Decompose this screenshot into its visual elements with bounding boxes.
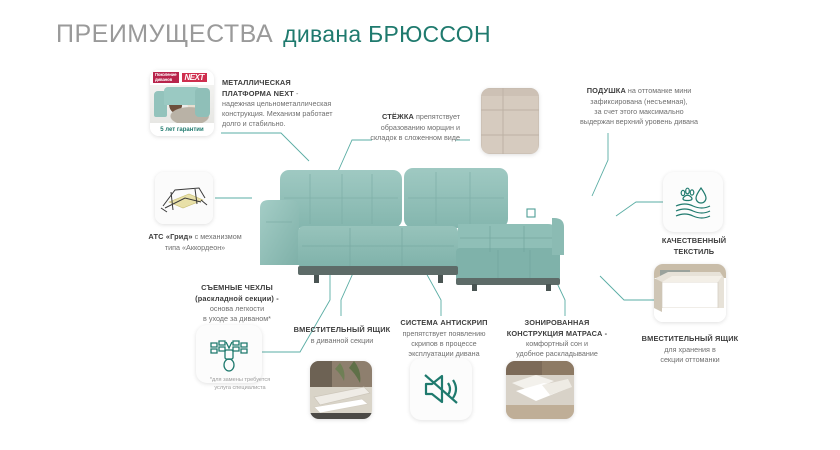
callout-pillow-line1: на оттоманке мини: [626, 86, 691, 95]
callout-platform-title-line1: МЕТАЛЛИЧЕСКАЯ: [222, 78, 291, 87]
callout-grid: АТС «Грид» с механизмом типа «Аккордеон»: [142, 232, 248, 253]
callout-drawer-sofa-body: в диванной секции: [290, 336, 394, 346]
page-title: ПРЕИМУЩЕСТВА дивана БРЮССОН: [56, 20, 491, 49]
grid-mechanism-thumbnail: [155, 172, 213, 224]
callout-mattress-line1: комфортный сон и: [498, 339, 616, 349]
next-promo-banner: Поколение диванов NEXT: [150, 70, 214, 85]
sofa-illustration: [258, 160, 598, 300]
callout-mattress-title-line2: КОНСТРУКЦИЯ МАТРАСА -: [507, 329, 608, 338]
callout-platform-dash: -: [294, 89, 298, 98]
callout-covers: СЪЕМНЫЕ ЧЕХЛЫ (раскладной секции) - осно…: [182, 283, 292, 324]
next-banner-logo: NEXT: [182, 73, 207, 82]
speaker-mute-icon: [420, 369, 462, 409]
next-warranty-label: 5 лет гарантии: [150, 123, 214, 136]
infographic-page: ПРЕИМУЩЕСТВА дивана БРЮССОН: [0, 0, 840, 450]
callout-grid-line2: типа «Аккордеон»: [142, 243, 248, 253]
callout-antiskrip-line1: препятствует появлению: [392, 329, 496, 339]
callout-drawer-ottoman-title: ВМЕСТИТЕЛЬНЫЙ ЯЩИК: [642, 334, 739, 343]
callout-quilting-line1: препятствует: [414, 112, 460, 121]
page-title-main: ПРЕИМУЩЕСТВА: [56, 20, 273, 49]
page-title-accent: дивана БРЮССОН: [283, 21, 491, 48]
callout-quilting-line3: складок в сложенном виде: [368, 133, 460, 143]
callout-pillow-line4: выдержан верхний уровень дивана: [555, 117, 723, 127]
callout-pillow-line3: за счет этого максимально: [555, 107, 723, 117]
callout-covers-title-line2: (раскладной секции) -: [195, 294, 279, 303]
callout-antiskrip-line2: скрипов в процессе: [392, 339, 496, 349]
next-platform-thumbnail: Поколение диванов NEXT 5 лет гарантии: [150, 70, 214, 136]
textile-icon-card: [663, 172, 723, 232]
paw-water-fabric-icon: [672, 182, 714, 222]
callout-drawer-sofa-title: ВМЕСТИТЕЛЬНЫЙ ЯЩИК: [294, 325, 391, 334]
callout-covers-title-line1: СЪЕМНЫЕ ЧЕХЛЫ: [201, 283, 273, 292]
callout-textile: КАЧЕСТВЕННЫЙ ТЕКСТИЛЬ: [648, 236, 740, 257]
callout-quilting-line2: образованию морщин и: [368, 123, 460, 133]
callout-platform: МЕТАЛЛИЧЕСКАЯ ПЛАТФОРМА NEXT - надежная …: [222, 78, 352, 130]
zipper-icon: [206, 334, 252, 374]
antiskrip-icon-card: [410, 358, 472, 420]
callout-grid-bold: АТС «Грид»: [148, 232, 192, 241]
callout-grid-rest: с механизмом: [193, 232, 242, 241]
covers-footnote-line2: услуга специалиста: [186, 385, 294, 393]
callout-platform-body-line2: конструкция. Механизм работает: [222, 109, 352, 119]
callout-drawer-ottoman-line1: для хранения в: [634, 345, 746, 355]
callout-drawer-sofa: ВМЕСТИТЕЛЬНЫЙ ЯЩИК в диванной секции: [290, 325, 394, 346]
callout-mattress: ЗОНИРОВАННАЯ КОНСТРУКЦИЯ МАТРАСА - комфо…: [498, 318, 616, 359]
callout-pillow-line2: зафиксирована (несъемная),: [555, 97, 723, 107]
callout-pillow: ПОДУШКА на оттоманке мини зафиксирована …: [555, 86, 723, 127]
callout-platform-body-line1: надежная цельнометаллическая: [222, 99, 352, 109]
callout-drawer-ottoman: ВМЕСТИТЕЛЬНЫЙ ЯЩИК для хранения в секции…: [634, 334, 746, 365]
callout-covers-body-line2: в уходе за диваном*: [182, 314, 292, 324]
next-chair-photo: [150, 85, 214, 123]
callout-mattress-line2: удобное раскладывание: [498, 349, 616, 359]
callout-textile-line1: КАЧЕСТВЕННЫЙ: [662, 236, 726, 245]
callout-antiskrip-title: СИСТЕМА АНТИСКРИП: [400, 318, 487, 327]
callout-antiskrip: СИСТЕМА АНТИСКРИП препятствует появлению…: [392, 318, 496, 359]
sofa-drawer-photo: [310, 361, 372, 419]
callout-quilting: СТЁЖКА препятствует образованию морщин и…: [368, 112, 460, 143]
callout-platform-title-line2: ПЛАТФОРМА NEXT: [222, 89, 294, 98]
callout-covers-footnote: *для замены требуется услуга специалиста: [186, 377, 294, 392]
callout-mattress-title-line1: ЗОНИРОВАННАЯ: [525, 318, 590, 327]
callout-platform-body-line3: долго и стабильно.: [222, 119, 352, 129]
ottoman-drawer-photo: [654, 264, 726, 322]
callout-quilting-title: СТЁЖКА: [382, 112, 414, 121]
covers-footnote-line1: *для замены требуется: [186, 377, 294, 385]
callout-covers-body-line1: основа легкости: [182, 304, 292, 314]
callout-pillow-title: ПОДУШКА: [587, 86, 626, 95]
pillow-photo-thumbnail: [481, 88, 539, 154]
next-banner-line2: диванов: [155, 77, 172, 82]
mattress-photo-thumbnail: [506, 361, 574, 419]
callout-drawer-ottoman-line2: секции оттоманки: [634, 355, 746, 365]
zipper-icon-card: [196, 325, 262, 383]
callout-textile-line2: ТЕКСТИЛЬ: [674, 247, 715, 256]
